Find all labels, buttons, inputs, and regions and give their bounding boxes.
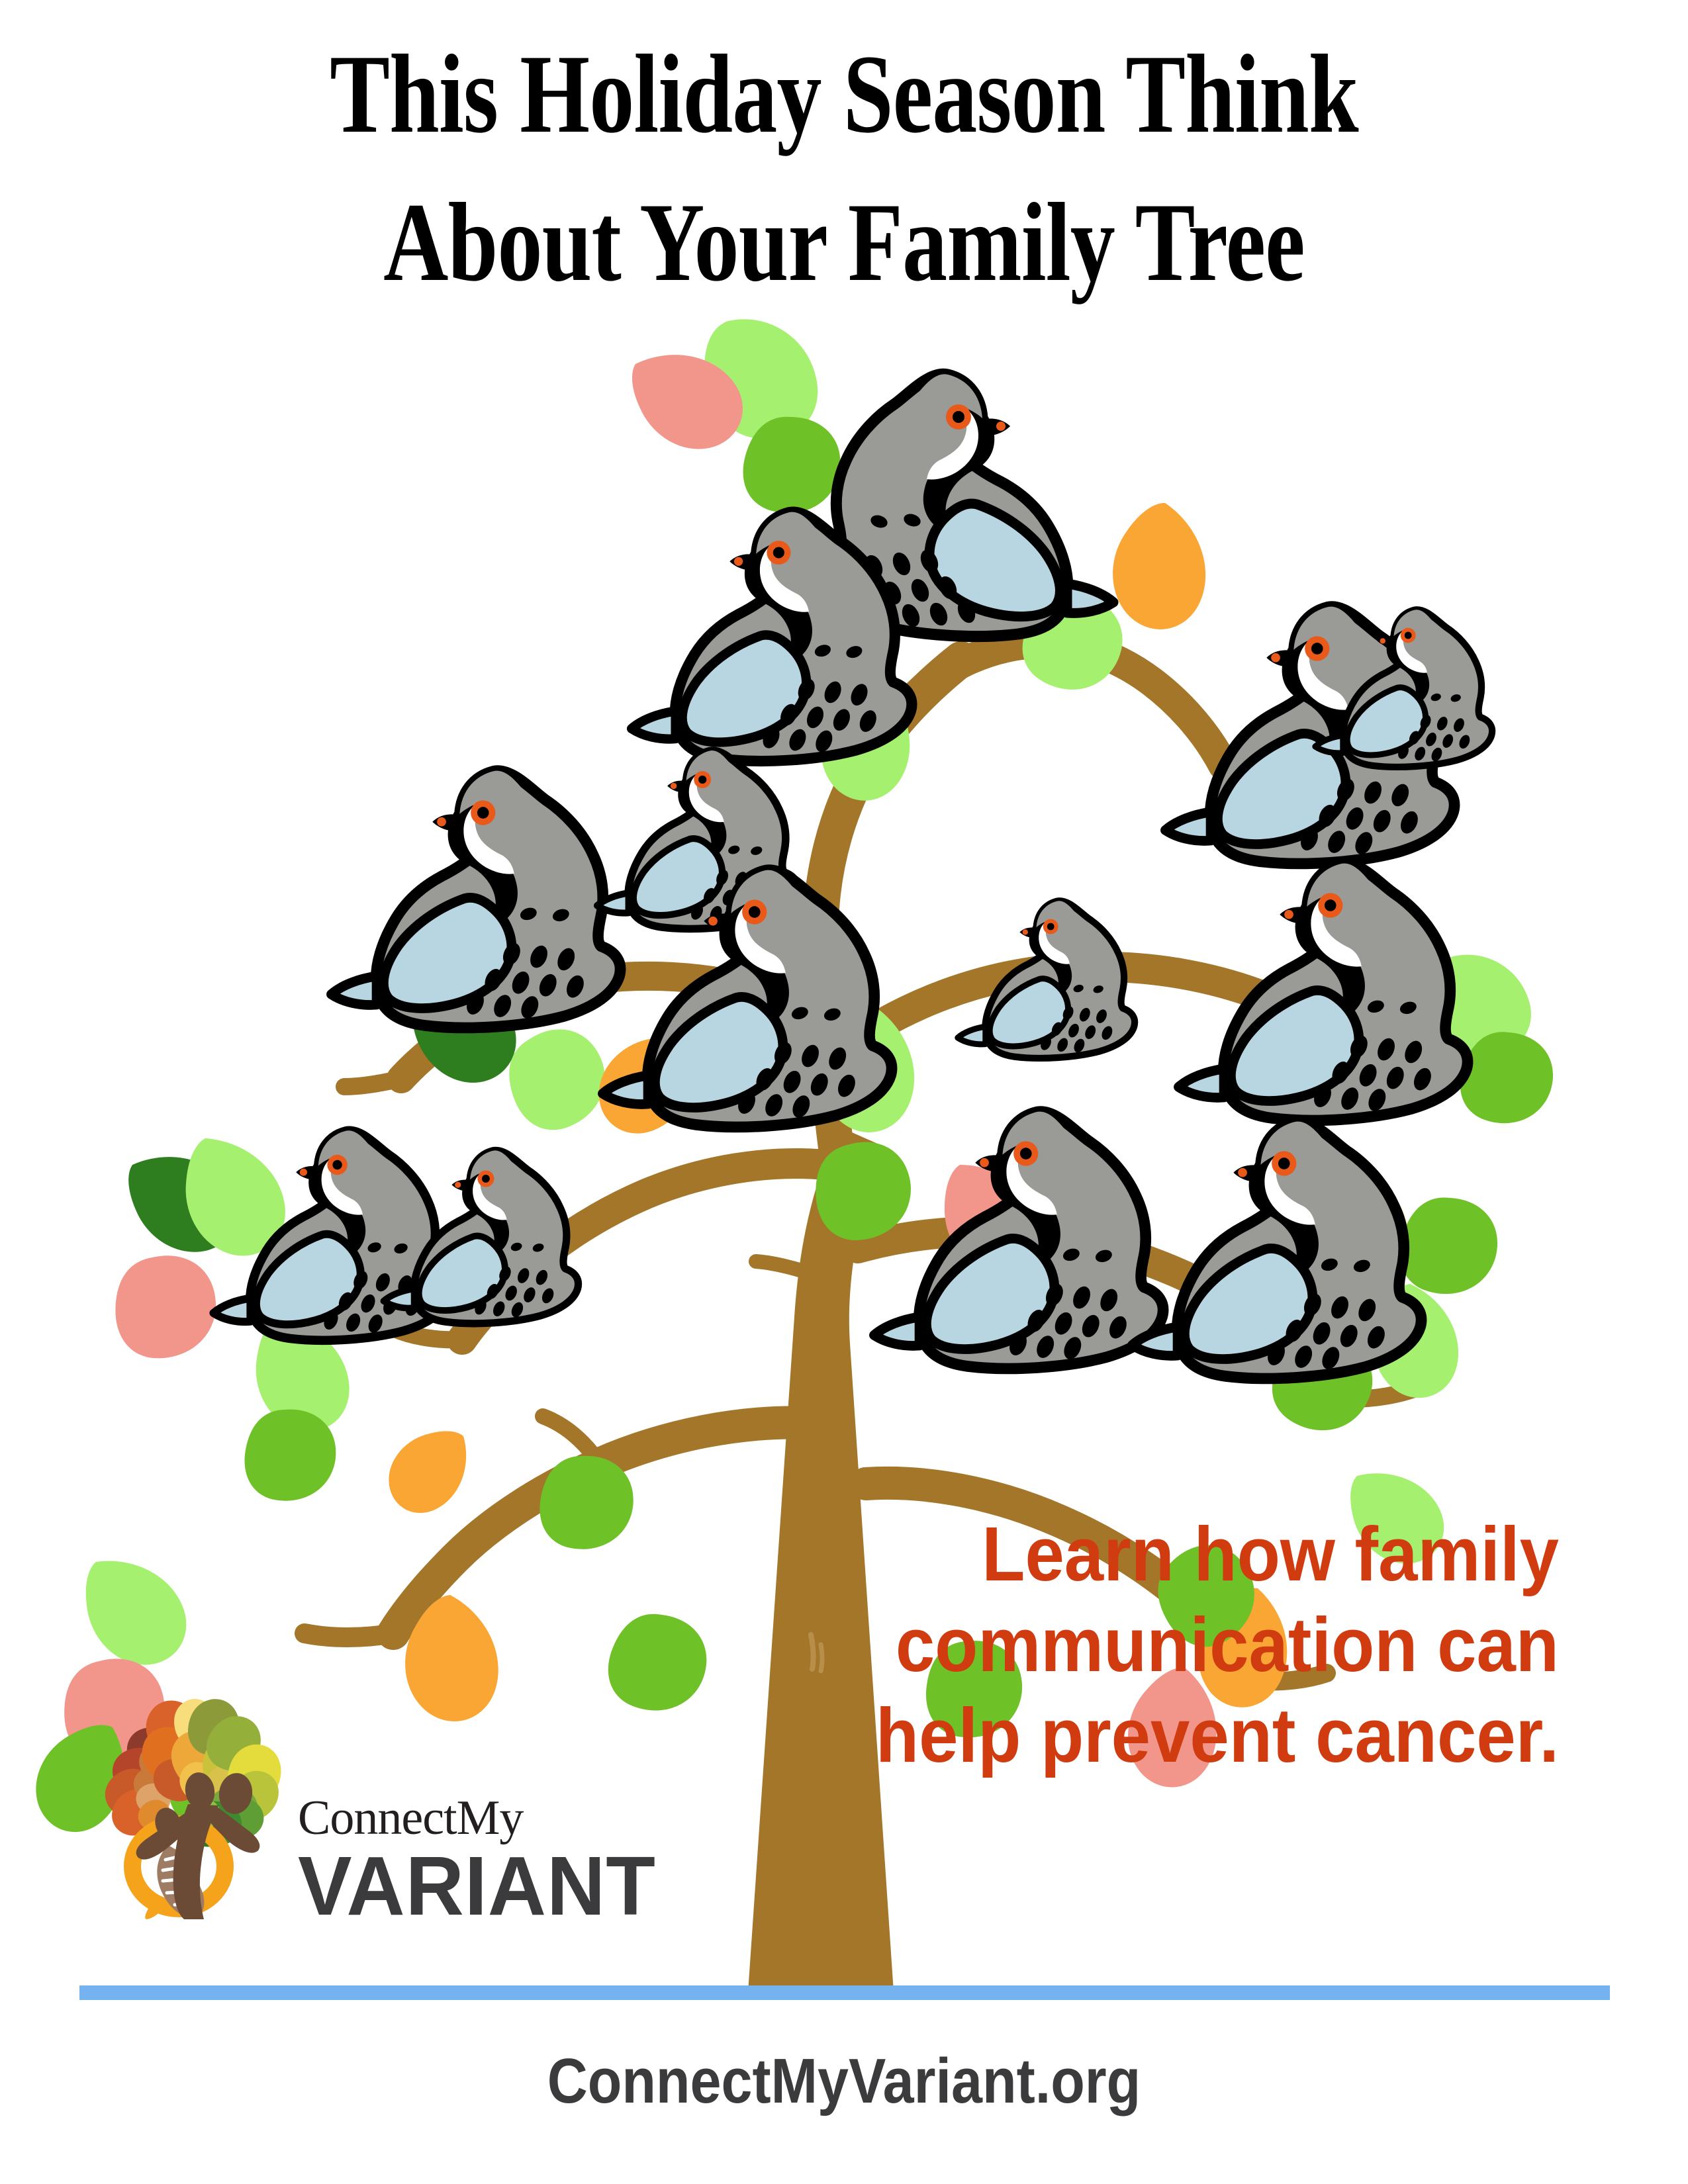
logo-wordmark: ConnectMy VARIANT [298,1794,629,1930]
poster-canvas: This Holiday Season Think About Your Fam… [0,0,1688,2184]
logo-name-connectmy: ConnectMy [298,1794,629,1843]
footer-divider-bar [79,1985,1610,2000]
tagline: Learn how family communication can help … [767,1509,1559,1781]
title-line-1: This Holiday Season Think [169,20,1519,168]
footer-website-url[interactable]: ConnectMyVariant.org [101,2045,1587,2118]
logo-tree-icon [99,1668,318,1919]
tagline-line-1: Learn how family [767,1509,1559,1600]
tagline-line-2: communication can [767,1600,1559,1690]
tagline-line-3: help prevent cancer. [767,1690,1559,1781]
bird-lower-right [1132,1122,1421,1379]
connectmyvariant-logo[interactable]: ConnectMy VARIANT [99,1668,622,1933]
page-title: This Holiday Season Think About Your Fam… [0,20,1688,317]
logo-name-variant: VARIANT [298,1843,619,1930]
bird-mid-left [331,771,620,1028]
